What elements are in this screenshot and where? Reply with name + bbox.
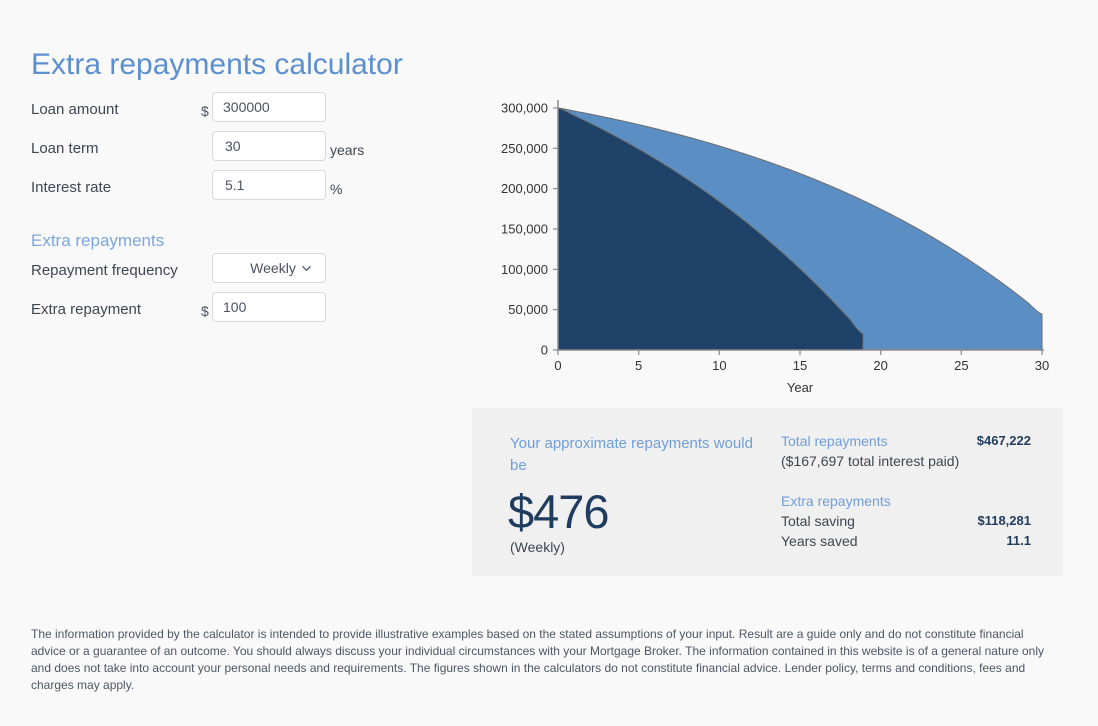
form-row-loan-amount: Loan amount $ [0,92,460,131]
chart-y-tick-label: 50,000 [508,302,548,317]
disclaimer-text: The information provided by the calculat… [31,626,1047,694]
form-row-interest-rate: Interest rate % [0,170,460,209]
total-saving-label: Total saving [781,513,855,529]
years-saved-row: Years saved 11.1 [781,533,1031,553]
extra-repayment-input[interactable] [212,292,326,322]
total-saving-row: Total saving $118,281 [781,513,1031,533]
repayment-amount-value: $476 [508,488,609,535]
loan-term-unit: years [330,142,364,158]
loan-term-input[interactable] [212,131,326,161]
extra-repayment-label: Extra repayment [31,301,141,318]
chart-areas [558,108,1042,350]
loan-term-label: Loan term [31,140,99,157]
total-repayments-group: Total repayments $467,222 ($167,697 tota… [781,433,1031,469]
total-saving-value: $118,281 [977,513,1031,528]
years-saved-value: 11.1 [1006,533,1031,548]
page-title: Extra repayments calculator [31,48,403,82]
chart-y-tick-label: 300,000 [501,101,548,116]
total-interest-note: ($167,697 total interest paid) [781,453,1031,469]
loan-balance-chart: 050,000100,000150,000200,000250,000300,0… [470,90,1070,402]
results-panel: Your approximate repayments would be $47… [472,408,1063,576]
chart-x-tick-label: 0 [554,358,561,373]
chart-y-tick-label: 0 [541,343,548,358]
repayment-frequency-note: (Weekly) [510,539,565,555]
chart-x-tick-label: 25 [954,358,968,373]
loan-amount-label: Loan amount [31,101,119,118]
form-row-repayment-frequency: Repayment frequency WeeklyFortnightlyMon… [0,253,460,292]
chart-y-tick-label: 200,000 [501,181,548,196]
calculator-form: Loan amount $ Loan term years Interest r… [0,92,460,331]
dollar-prefix-icon: $ [201,103,209,119]
extra-repayments-result-label: Extra repayments [781,493,891,509]
years-saved-label: Years saved [781,533,858,549]
chart-x-axis-title: Year [787,380,814,395]
dollar-prefix-icon-2: $ [201,303,209,319]
chart-x-tick-label: 10 [712,358,726,373]
chart-x-tick-label: 20 [873,358,887,373]
interest-rate-unit: % [330,181,342,197]
chart-x-tick-label: 5 [635,358,642,373]
loan-amount-input[interactable] [212,92,326,122]
chart-svg: 050,000100,000150,000200,000250,000300,0… [470,90,1070,402]
chart-x-tick-label: 15 [793,358,807,373]
chart-y-tick-label: 150,000 [501,222,548,237]
total-repayments-value: $467,222 [977,433,1031,448]
repayment-frequency-select[interactable]: WeeklyFortnightlyMonthly [212,253,326,283]
approximate-repayments-label: Your approximate repayments would be [510,433,758,477]
extra-repayments-heading-row: Extra repayments [781,493,1031,513]
extra-repayments-section: Extra repayments [0,209,460,253]
interest-rate-label: Interest rate [31,179,111,196]
interest-rate-input[interactable] [212,170,326,200]
total-repayments-row: Total repayments $467,222 [781,433,1031,453]
form-row-loan-term: Loan term years [0,131,460,170]
chart-y-tick-label: 250,000 [501,141,548,156]
extra-repayments-group: Extra repayments Total saving $118,281 Y… [781,493,1031,553]
form-row-extra-repayment: Extra repayment $ [0,292,460,331]
extra-repayments-heading: Extra repayments [31,231,164,251]
chart-x-tick-label: 30 [1035,358,1049,373]
total-repayments-label: Total repayments [781,433,888,449]
chart-y-tick-label: 100,000 [501,262,548,277]
